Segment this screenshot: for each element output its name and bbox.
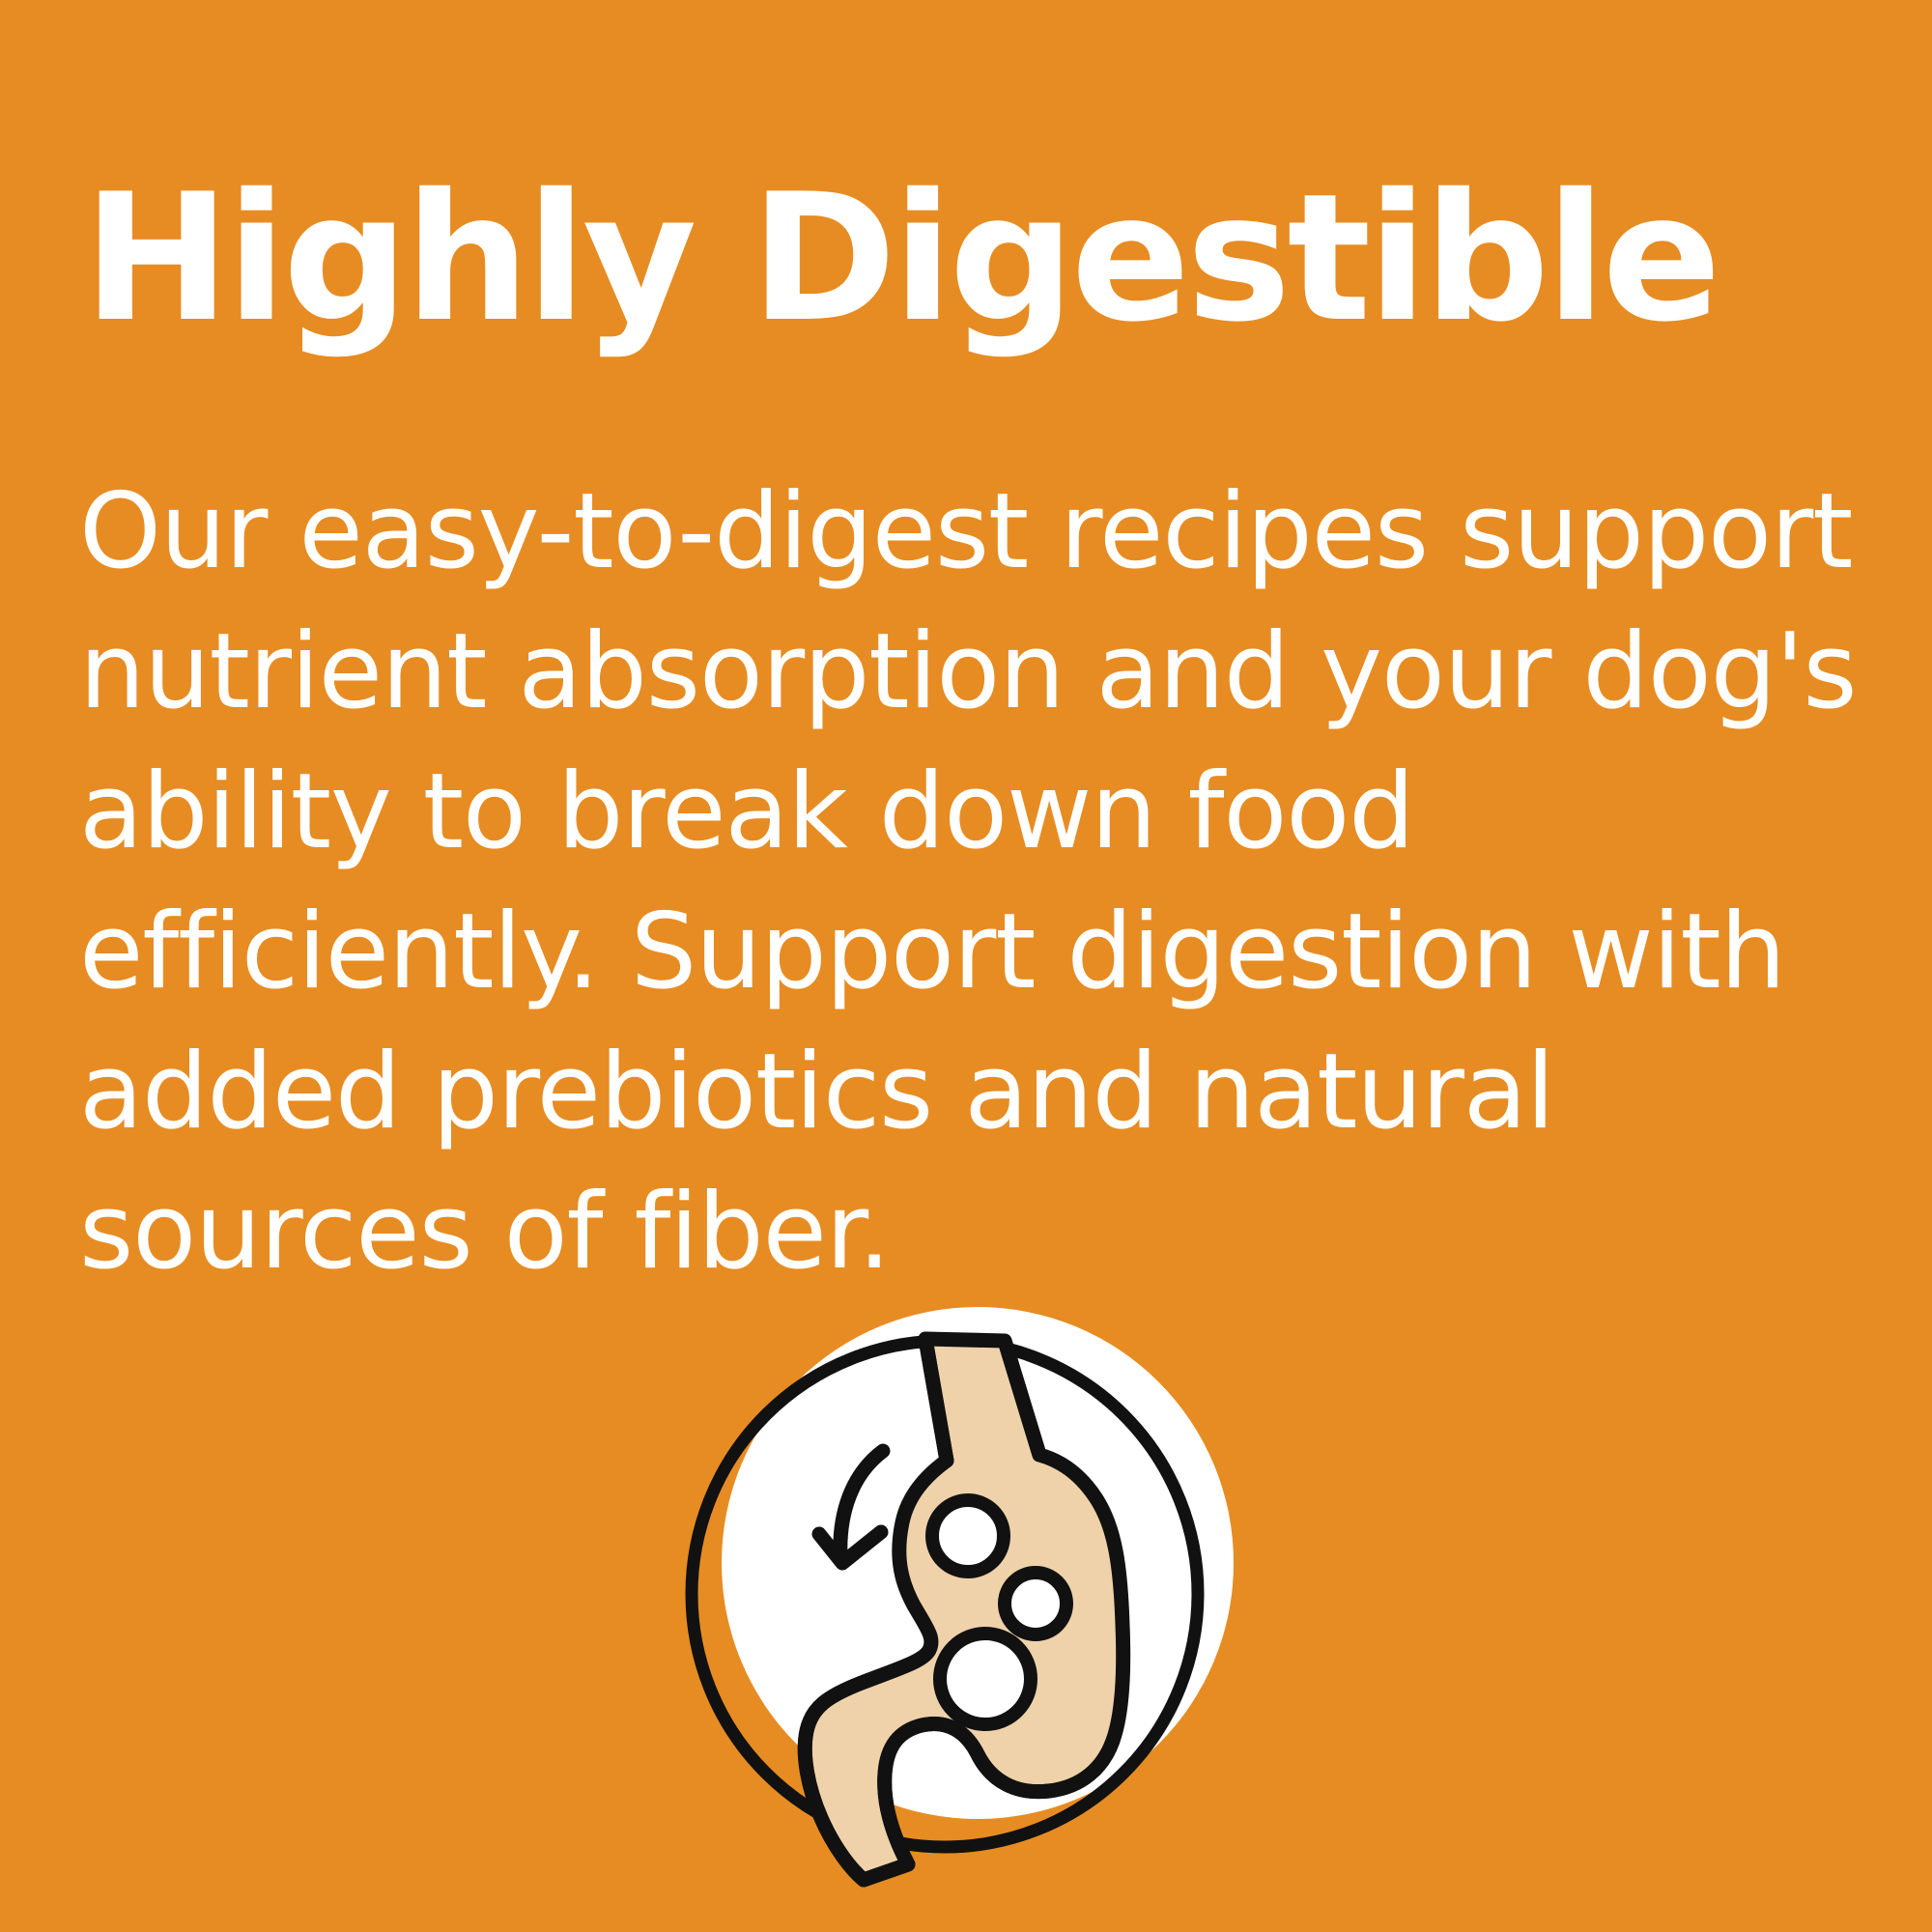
stomach-digestion-icon: [667, 1285, 1265, 1884]
nutrient-bubble-2: [1005, 1573, 1066, 1634]
page-title: Highly Digestible: [83, 164, 1861, 353]
feature-card: Highly Digestible Our easy-to-digest rec…: [0, 0, 1932, 1932]
nutrient-bubble-3: [940, 1634, 1031, 1724]
nutrient-bubble-1: [932, 1500, 1004, 1572]
body-description: Our easy-to-digest recipes support nutri…: [79, 462, 1876, 1302]
